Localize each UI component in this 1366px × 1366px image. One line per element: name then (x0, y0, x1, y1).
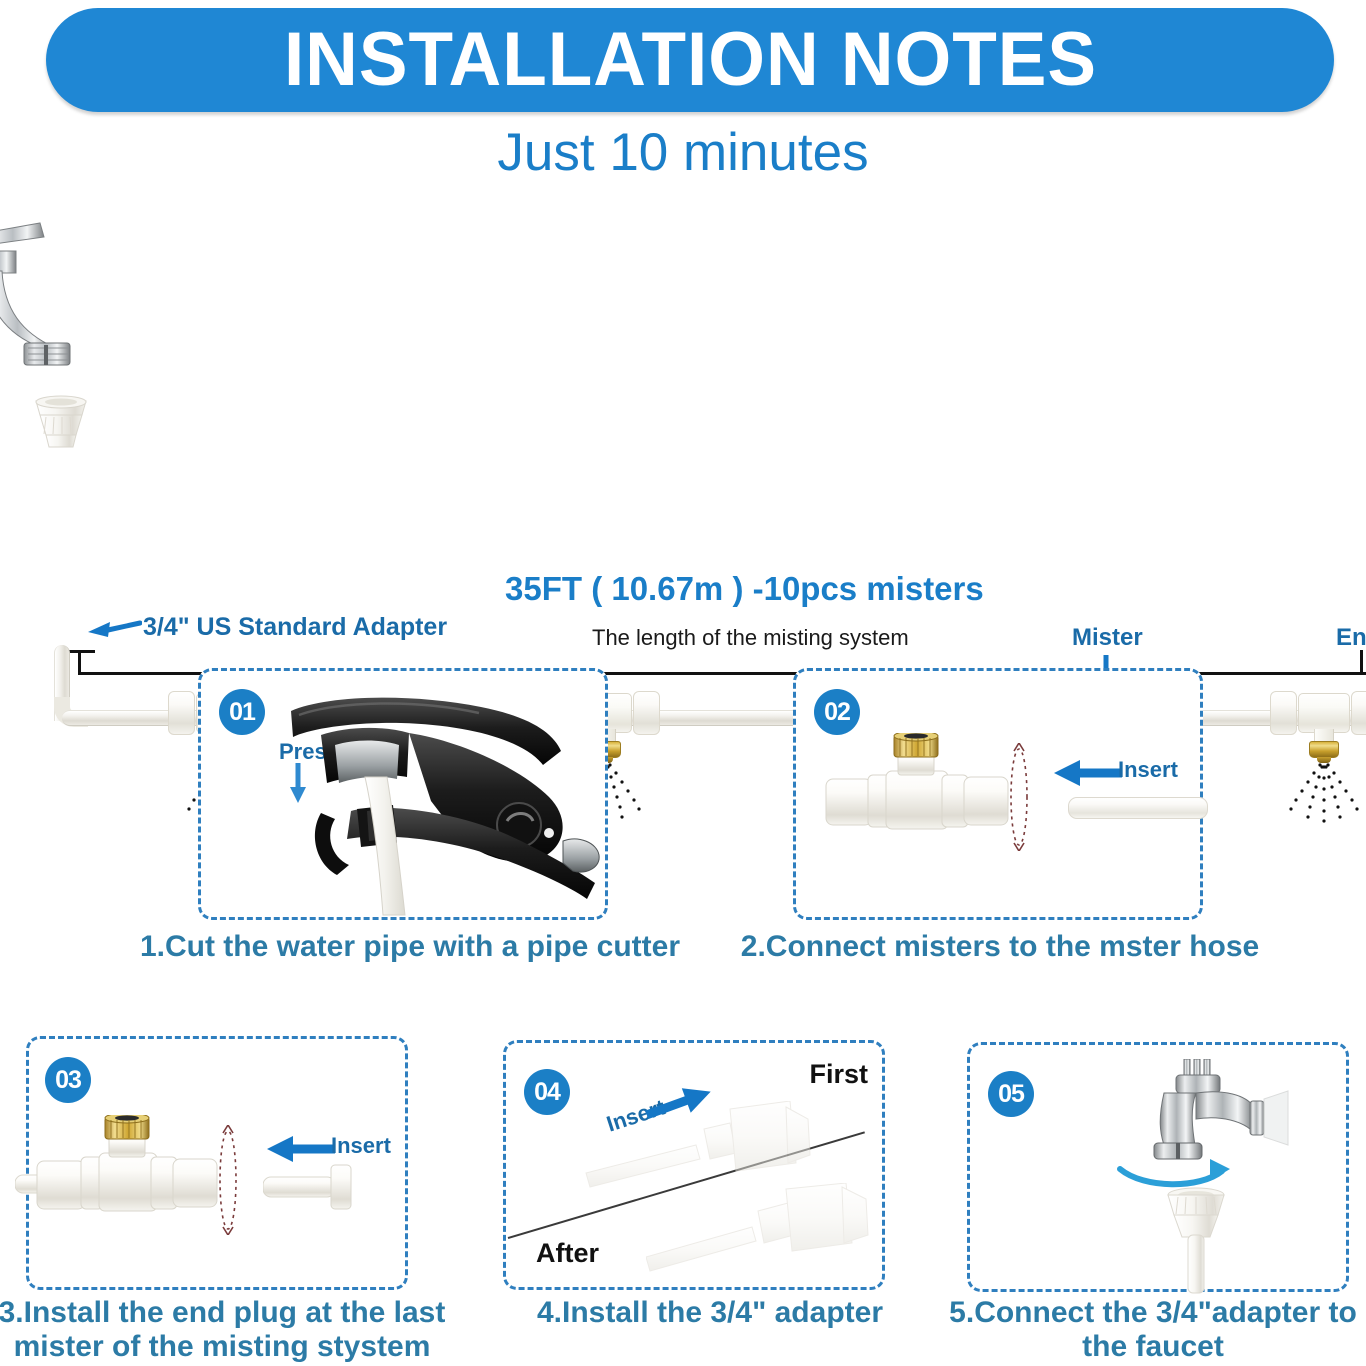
step-caption-03: 3.Install the end plug at the last miste… (0, 1296, 452, 1363)
adapter-icon (1144, 1187, 1254, 1295)
step-panel-05: 05 (967, 1042, 1349, 1292)
step-panel-03: 03 (26, 1036, 408, 1290)
step-caption-05: 5.Connect the 3/4"adapter to the faucet (940, 1296, 1366, 1363)
tee-collar-left (168, 691, 195, 735)
step-badge-03: 03 (45, 1057, 91, 1103)
step-panel-01: 01 Press (198, 668, 608, 920)
pipe-cutter-icon (281, 693, 601, 921)
adapter-arrow-icon (86, 615, 142, 643)
tee-fitting-icon (15, 1115, 221, 1239)
insert-arrow-icon (267, 1135, 337, 1163)
page-title: INSTALLATION NOTES (283, 22, 1096, 98)
adapter-label: 3/4" US Standard Adapter (143, 613, 447, 642)
tee-fitting-icon (822, 733, 1022, 853)
step-badge-04: 04 (524, 1069, 570, 1115)
adapter-icon (30, 395, 92, 457)
mister-label: Mister (1072, 624, 1143, 652)
header-banner: INSTALLATION NOTES (46, 8, 1334, 112)
insert-label: Insert (1118, 757, 1178, 783)
brass-nozzle (1309, 741, 1339, 758)
system-length-subtitle: The length of the misting system (592, 625, 909, 651)
white-pipe (1068, 797, 1208, 819)
step-panel-02: 02 (793, 668, 1203, 920)
tee-collar-right (633, 691, 660, 735)
step-caption-02: 2.Connect misters to the mster hose (740, 930, 1260, 964)
system-schematic: 3/4" US Standard Adapter 35FT ( 10.67m )… (0, 205, 1366, 635)
installation-notes-page: INSTALLATION NOTES Just 10 minutes (0, 0, 1366, 1366)
step-badge-02: 02 (814, 689, 860, 735)
tee-center-body (1298, 693, 1350, 733)
first-label: First (809, 1059, 868, 1090)
mister-assembly (1270, 689, 1366, 809)
end-plug-label: En (1336, 624, 1366, 652)
insertion-depth-indicator (1006, 743, 1032, 851)
step-caption-01: 1.Cut the water pipe with a pipe cutter (130, 930, 690, 964)
insert-label: Insert (331, 1133, 391, 1159)
step-badge-01: 01 (219, 689, 265, 735)
insertion-depth-indicator (215, 1125, 241, 1235)
after-label: After (536, 1238, 599, 1269)
page-subtitle: Just 10 minutes (0, 122, 1366, 183)
faucet-icon (1120, 1059, 1300, 1169)
spray-pattern-icon (1264, 763, 1366, 825)
bracket-right-tick (1360, 650, 1363, 675)
adapter-icon (646, 1183, 886, 1293)
faucet-icon (0, 215, 102, 385)
end-plug-icon (263, 1163, 359, 1211)
step-panel-04: 04 First After Insert (503, 1040, 885, 1290)
insert-arrow-icon (1054, 759, 1124, 787)
step-caption-04: 4.Install the 3/4" adapter (480, 1296, 940, 1330)
tee-collar-right (1351, 691, 1366, 735)
tee-collar-left (1270, 691, 1297, 735)
system-length-title: 35FT ( 10.67m ) -10pcs misters (505, 570, 984, 608)
step-badge-05: 05 (988, 1071, 1034, 1117)
